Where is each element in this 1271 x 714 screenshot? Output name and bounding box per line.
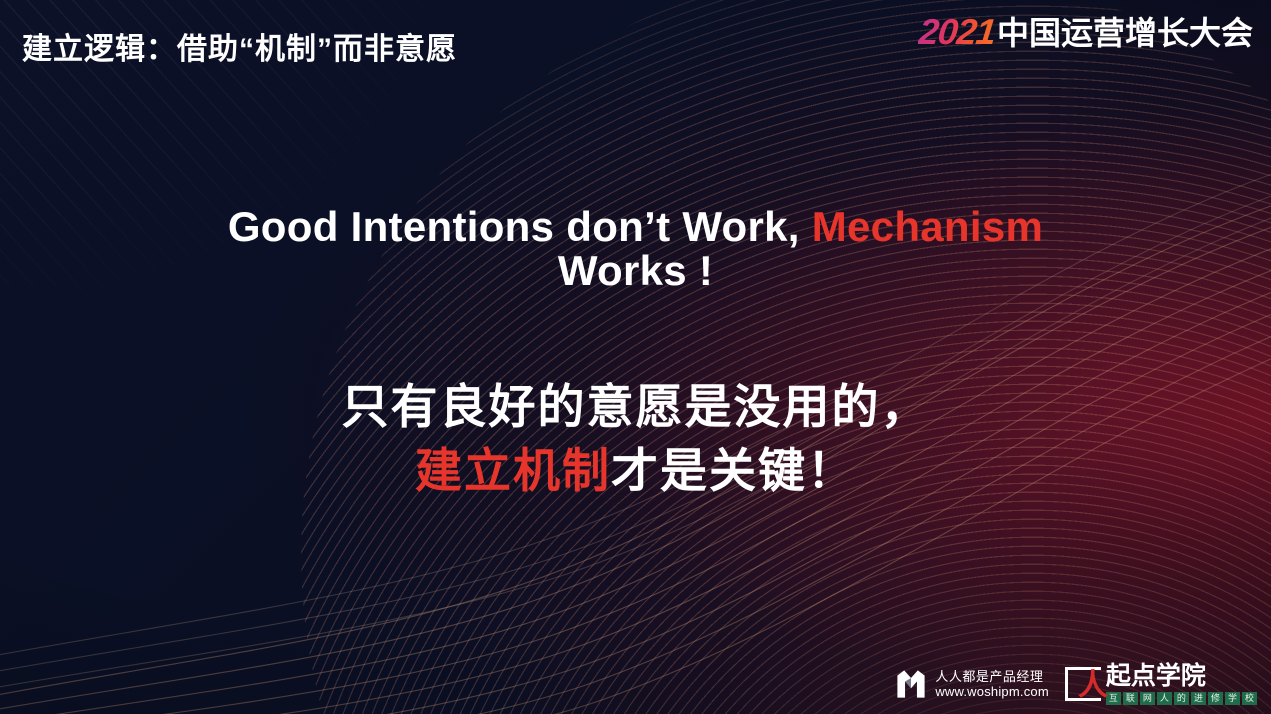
woshipm-url: www.woshipm.com bbox=[935, 684, 1049, 699]
qidian-subtitle-char: 网 bbox=[1140, 692, 1155, 705]
bracket-person-icon: 人 bbox=[1065, 667, 1101, 701]
chinese-highlight: 建立机制 bbox=[415, 444, 611, 497]
chinese-line-2: 建立机制才是关键！ bbox=[0, 439, 1271, 502]
woshipm-brand: 人人都是产品经理 www.woshipm.com bbox=[894, 667, 1049, 701]
qidian-subtitle-char: 修 bbox=[1208, 692, 1223, 705]
qidian-subtitle: 互 联 网 人 的 进 修 学 校 bbox=[1106, 692, 1257, 705]
qidian-subtitle-char: 校 bbox=[1242, 692, 1257, 705]
qidian-subtitle-char: 互 bbox=[1106, 692, 1121, 705]
person-glyph: 人 bbox=[1078, 671, 1108, 701]
event-logo-year: 2021 bbox=[917, 11, 998, 53]
qidian-brand: 人 起点学院 互 联 网 人 的 进 修 学 校 bbox=[1065, 662, 1257, 706]
qidian-subtitle-char: 学 bbox=[1225, 692, 1240, 705]
chinese-line-1: 只有良好的意愿是没用的， bbox=[0, 375, 1271, 438]
english-part-1: Good Intentions don’t Work, bbox=[228, 203, 812, 250]
woshipm-texts: 人人都是产品经理 www.woshipm.com bbox=[935, 669, 1049, 700]
qidian-subtitle-char: 人 bbox=[1157, 692, 1172, 705]
page-title: 建立逻辑：借助“机制”而非意愿 bbox=[22, 24, 457, 68]
english-part-2: Works ! bbox=[558, 247, 713, 294]
qidian-subtitle-char: 进 bbox=[1191, 692, 1206, 705]
qidian-wordmark: 起点学院 互 联 网 人 的 进 修 学 校 bbox=[1106, 663, 1257, 704]
footer-brands: 人人都是产品经理 www.woshipm.com 人 起点学院 互 联 网 人 … bbox=[894, 662, 1257, 706]
qidian-subtitle-char: 的 bbox=[1174, 692, 1189, 705]
woshipm-name: 人人都是产品经理 bbox=[935, 669, 1049, 684]
m-logo-icon bbox=[894, 667, 928, 701]
qidian-subtitle-char: 联 bbox=[1123, 692, 1138, 705]
presentation-slide: 建立逻辑：借助“机制”而非意愿 2021 中国运营增长大会 Good Inten… bbox=[0, 0, 1271, 714]
english-highlight: Mechanism bbox=[812, 203, 1043, 250]
event-logo: 2021 中国运营增长大会 bbox=[919, 8, 1253, 54]
english-statement: Good Intentions don’t Work, Mechanism Wo… bbox=[196, 205, 1076, 293]
slide-content: Good Intentions don’t Work, Mechanism Wo… bbox=[0, 205, 1271, 502]
qidian-name: 起点学院 bbox=[1106, 663, 1257, 689]
chinese-statement: 只有良好的意愿是没用的， 建立机制才是关键！ bbox=[0, 375, 1271, 502]
event-logo-name: 中国运营增长大会 bbox=[997, 8, 1253, 54]
chinese-line-2-rest: 才是关键！ bbox=[611, 444, 856, 497]
